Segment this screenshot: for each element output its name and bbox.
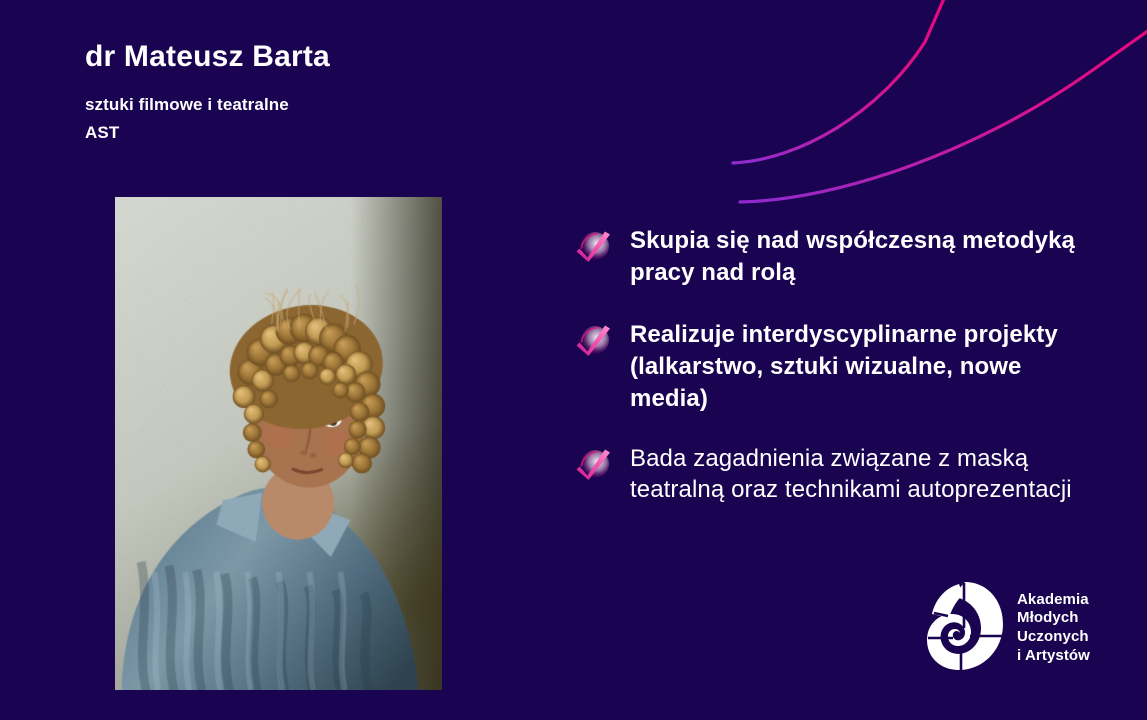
check-icon xyxy=(572,321,614,361)
list-item: Bada zagadnienia związane z maską teatra… xyxy=(572,443,1092,507)
subtitle-line-discipline: sztuki filmowe i teatralne xyxy=(85,91,645,119)
logo: Akademia Młodych Uczonych i Artystów xyxy=(925,578,1120,678)
subtitle-block: sztuki filmowe i teatralne AST xyxy=(85,91,645,147)
bullet-list: Skupia się nad współczesną metodyką prac… xyxy=(572,225,1092,534)
nautilus-spiral-icon xyxy=(925,578,1005,678)
portrait-photo-canvas xyxy=(115,197,442,690)
logo-line-4: i Artystów xyxy=(1017,647,1090,666)
logo-line-2: Młodych xyxy=(1017,609,1090,628)
check-icon xyxy=(572,227,614,267)
list-item-label: Realizuje interdyscyplinarne projekty (l… xyxy=(614,319,1092,415)
logo-line-3: Uczonych xyxy=(1017,628,1090,647)
list-item: Skupia się nad współczesną metodyką prac… xyxy=(572,225,1092,289)
slide-root: dr Mateusz Barta sztuki filmowe i teatra… xyxy=(0,0,1147,720)
arc-upper-icon xyxy=(733,0,946,163)
check-icon xyxy=(572,445,614,485)
list-item-label: Skupia się nad współczesną metodyką prac… xyxy=(614,225,1092,289)
subtitle-line-institution: AST xyxy=(85,119,645,147)
logo-line-1: Akademia xyxy=(1017,591,1090,610)
portrait-photo xyxy=(115,197,442,690)
list-item-label: Bada zagadnienia związane z maską teatra… xyxy=(614,443,1092,507)
list-item: Realizuje interdyscyplinarne projekty (l… xyxy=(572,319,1092,415)
arc-lower-icon xyxy=(740,28,1147,202)
logo-text: Akademia Młodych Uczonych i Artystów xyxy=(1017,591,1090,666)
header-block: dr Mateusz Barta sztuki filmowe i teatra… xyxy=(85,40,645,147)
page-title: dr Mateusz Barta xyxy=(85,40,645,73)
